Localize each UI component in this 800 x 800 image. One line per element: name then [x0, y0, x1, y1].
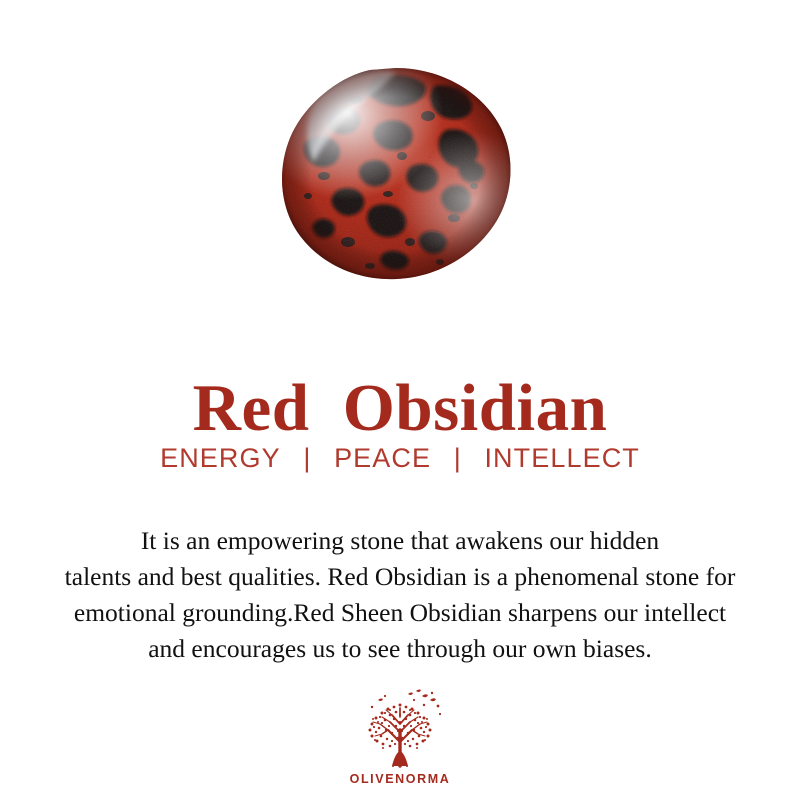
- keyword-peace: PEACE: [334, 443, 431, 474]
- keyword-list: ENERGY | PEACE | INTELLECT: [0, 443, 800, 474]
- gemstone-cabochon-icon: [278, 66, 514, 282]
- description-line: talents and best qualities. Red Obsidian…: [14, 559, 786, 595]
- description-line: and encourages us to see through our own…: [14, 631, 786, 667]
- product-info-card: Red Obsidian ENERGY | PEACE | INTELLECT …: [0, 0, 800, 800]
- brand-logo: OLIVENORMA: [0, 686, 800, 786]
- keyword-intellect: INTELLECT: [484, 443, 639, 474]
- brand-name: OLIVENORMA: [0, 772, 800, 786]
- stone-image: [278, 66, 514, 282]
- tree-of-life-icon: [352, 686, 448, 768]
- description-text: It is an empowering stone that awakens o…: [14, 523, 786, 667]
- keyword-energy: ENERGY: [160, 443, 281, 474]
- keyword-separator: |: [289, 443, 325, 474]
- description-line: emotional grounding.Red Sheen Obsidian s…: [14, 595, 786, 631]
- description-line: It is an empowering stone that awakens o…: [14, 523, 786, 559]
- page-title: Red Obsidian: [0, 375, 800, 442]
- keyword-separator: |: [440, 443, 476, 474]
